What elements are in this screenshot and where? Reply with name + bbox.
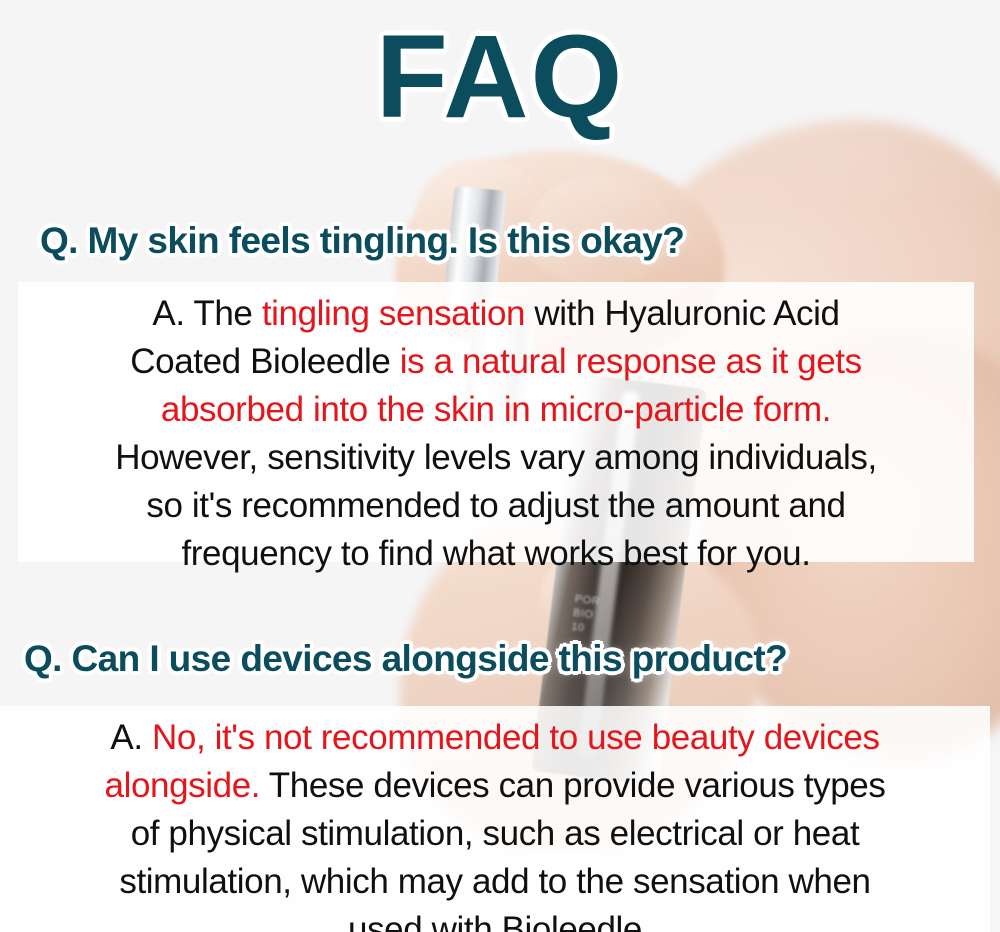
answer-line: frequency to find what works best for yo… xyxy=(18,530,974,578)
answer-text: stimulation, which may add to the sensat… xyxy=(119,862,870,901)
answer-line: stimulation, which may add to the sensat… xyxy=(0,858,990,906)
answer-text: A. xyxy=(110,718,152,757)
faq-promo-image: POR BIO 10 FAQ Q. My skin feels tingling… xyxy=(0,0,1000,932)
answer-text: Coated Bioleedle xyxy=(130,342,400,381)
answer-1-panel: A. The tingling sensation with Hyaluroni… xyxy=(18,282,974,562)
highlighted-text: absorbed into the skin in micro-particle… xyxy=(161,390,831,429)
answer-line: However, sensitivity levels vary among i… xyxy=(18,434,974,482)
answer-line: absorbed into the skin in micro-particle… xyxy=(18,386,974,434)
answer-line: A. The tingling sensation with Hyaluroni… xyxy=(18,290,974,338)
question-2: Q. Can I use devices alongside this prod… xyxy=(24,637,787,681)
answer-text: These devices can provide various types xyxy=(260,766,885,805)
answer-line: so it's recommended to adjust the amount… xyxy=(18,482,974,530)
answer-2-panel: A. No, it's not recommended to use beaut… xyxy=(0,706,990,932)
page-title: FAQ xyxy=(0,18,1000,136)
answer-line: A. No, it's not recommended to use beaut… xyxy=(0,714,990,762)
answer-text: so it's recommended to adjust the amount… xyxy=(146,486,845,525)
question-1: Q. My skin feels tingling. Is this okay? xyxy=(40,219,684,263)
answer-line: used with Bioleedle xyxy=(0,906,990,932)
answer-text: frequency to find what works best for yo… xyxy=(181,534,810,573)
highlighted-text: alongside. xyxy=(105,766,261,805)
answer-text: with Hyaluronic Acid xyxy=(525,294,840,333)
answer-text: of physical stimulation, such as electri… xyxy=(131,814,860,853)
highlighted-text: is a natural response as it gets xyxy=(400,342,862,381)
answer-line: alongside. These devices can provide var… xyxy=(0,762,990,810)
answer-text: However, sensitivity levels vary among i… xyxy=(115,438,877,477)
answer-text: A. The xyxy=(152,294,261,333)
highlighted-text: tingling sensation xyxy=(262,294,525,333)
answer-line: Coated Bioleedle is a natural response a… xyxy=(18,338,974,386)
answer-line: of physical stimulation, such as electri… xyxy=(0,810,990,858)
answer-text: used with Bioleedle xyxy=(348,910,642,932)
highlighted-text: No, it's not recommended to use beauty d… xyxy=(152,718,880,757)
